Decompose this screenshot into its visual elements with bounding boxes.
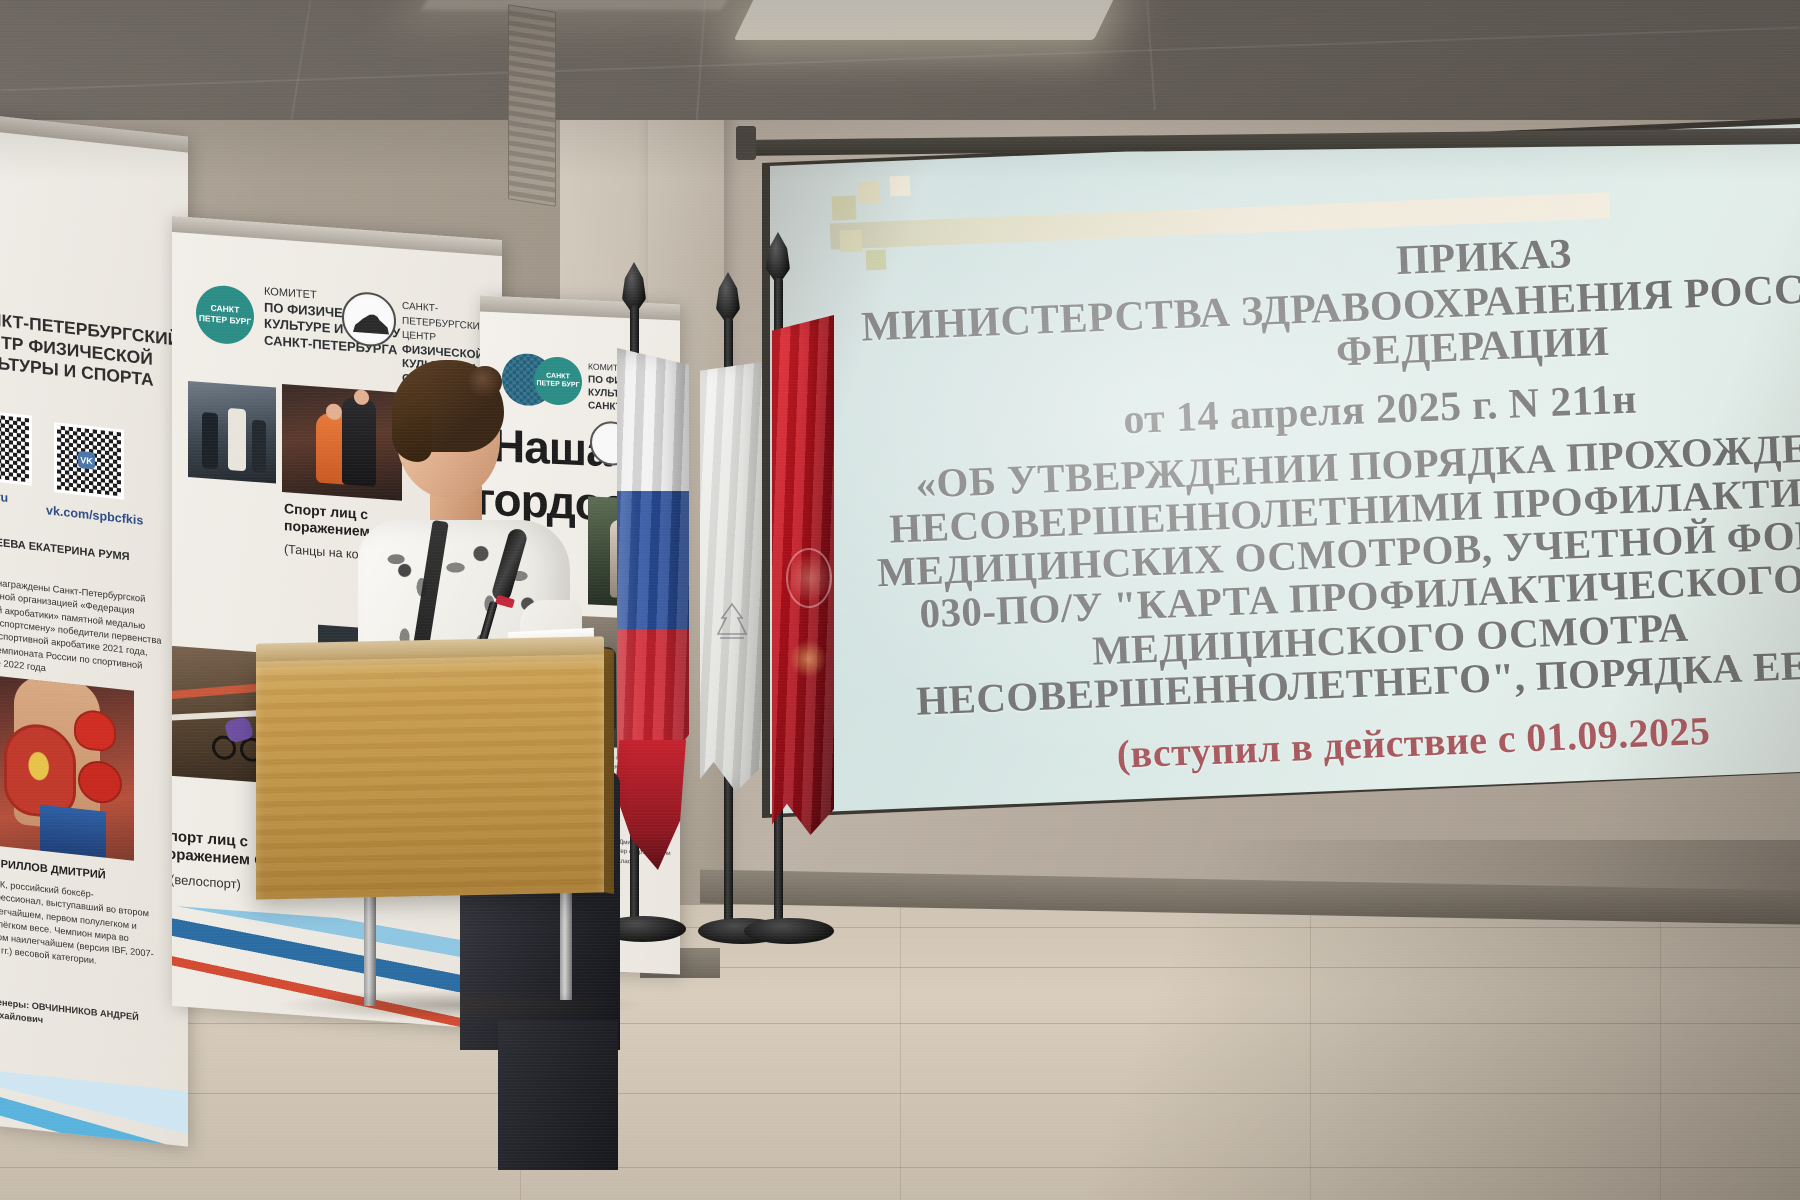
banner-left-vk-url: vk.com/spbcfkis	[46, 503, 143, 528]
slide-text-block: ПРИКАЗ МИНИСТЕРСТВА ЗДРАВООХРАНЕНИЯ РОСС…	[819, 222, 1800, 814]
ceiling-light-panel	[734, 0, 1116, 40]
podium-leg	[364, 886, 376, 1006]
screen-roller-cap	[736, 126, 756, 160]
qr-code-site-icon	[0, 408, 32, 486]
flag-base-red	[744, 918, 834, 944]
vk-badge-icon: VK	[78, 451, 95, 470]
presenter-hair-bun	[468, 366, 502, 398]
podium-leg	[560, 880, 572, 1000]
ceiling-tile-seam	[696, 0, 706, 120]
acrobatics-gym-photo	[188, 381, 276, 483]
flag-red-emblem-secondary-icon	[790, 640, 826, 678]
banner-left-boxer-bio: МСМК, российский боксёр-профессионал, вы…	[0, 876, 158, 975]
speaker-podium	[256, 654, 604, 899]
flag-russia	[617, 348, 689, 768]
rollup-banner-left: САНКТ-ПЕТЕРБУРГСКИЙ ЦЕНТР ФИЗИЧЕСКОЙ КУЛ…	[0, 115, 188, 1146]
flag-red-emblem-icon	[786, 548, 832, 608]
projection-screen[interactable]: ПРИКАЗ МИНИСТЕРСТВА ЗДРАВООХРАНЕНИЯ РОСС…	[770, 124, 1800, 814]
podium-floor-shadow	[280, 990, 640, 1020]
flag-emblem-svg	[712, 600, 752, 650]
slide-decor-square	[890, 176, 911, 197]
ceiling-tile-seam	[1146, 0, 1156, 110]
ceiling-light-panel	[421, 0, 738, 10]
boxer-photo	[0, 675, 134, 861]
banner-left-heading: САНКТ-ПЕТЕРБУРГСКИЙ ЦЕНТР ФИЗИЧЕСКОЙ КУЛ…	[0, 306, 188, 398]
flag-white-city-folds	[700, 362, 762, 792]
podium-wood-grain	[256, 654, 604, 899]
flag-white-city-emblem-icon	[712, 600, 752, 650]
banner-left-body-text: 2021 года награждены Санкт-Петербургской…	[0, 571, 172, 688]
slide-decor-square	[840, 230, 863, 253]
presenter-legs	[498, 1020, 618, 1170]
banner-left-site-url: spb.ru	[0, 487, 8, 505]
conference-room-photo: ПРИКАЗ МИНИСТЕРСТВА ЗДРАВООХРАНЕНИЯ РОСС…	[0, 0, 1800, 1200]
spb-round-logo-icon: САНКТ ПЕТЕР БУРГ	[196, 284, 254, 346]
slide-decor-square	[858, 182, 881, 205]
banner-left-coach-label: Тренеры: ОВЧИННИКОВ АНДРЕЙ Михайлович	[0, 995, 156, 1040]
wall-air-vent	[508, 4, 556, 207]
slide-decor-square	[832, 196, 857, 221]
center-kicker: САНКТ-ПЕТЕРБУРГСКИЙ ЦЕНТР	[402, 301, 487, 344]
presenter-hair-front	[392, 386, 432, 462]
ceiling-tile-seam	[291, 1, 312, 120]
wheelchair-dance-photo	[282, 384, 402, 501]
